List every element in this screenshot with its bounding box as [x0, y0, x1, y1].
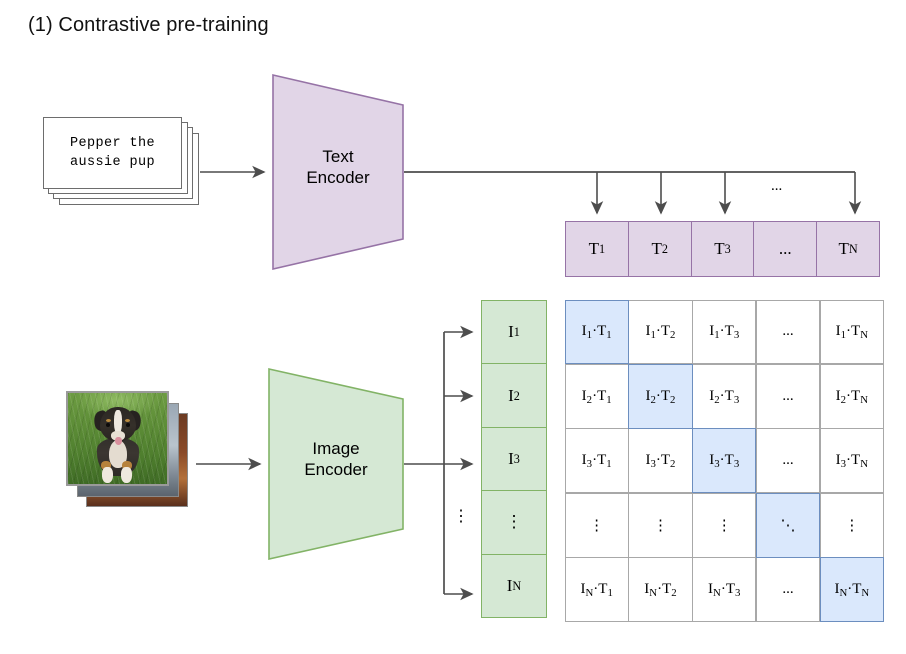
image-embedding-cell: IN: [481, 554, 547, 618]
similarity-cell: I2·TN: [820, 364, 884, 429]
text-embedding-base: T: [651, 239, 661, 259]
text-encoder-label-line1: Text: [272, 146, 404, 167]
text-encoder-block[interactable]: Text Encoder: [272, 74, 404, 270]
similarity-term: I2: [836, 388, 846, 405]
page-title: (1) Contrastive pre-training: [28, 13, 269, 37]
similarity-cell: I1·TN: [820, 300, 884, 365]
similarity-term: T3: [726, 581, 741, 598]
caption-text: Pepper the aussie pup: [70, 134, 155, 172]
similarity-term: I2: [582, 388, 592, 405]
similarity-cell: I1·T3: [692, 300, 756, 365]
similarity-term: I3: [709, 452, 719, 469]
text-row-top-ellipsis: ...: [771, 178, 782, 195]
similarity-term: TN: [851, 452, 868, 469]
text-embedding-base: T: [714, 239, 724, 259]
text-embedding-cell: T1: [565, 221, 629, 277]
puppy-tongue: [115, 437, 122, 445]
similarity-cell: I2·T3: [692, 364, 756, 429]
similarity-cell: IN·T1: [565, 557, 629, 622]
similarity-term: IN: [580, 581, 593, 598]
similarity-cell: ...: [756, 300, 820, 365]
similarity-term: TN: [851, 388, 868, 405]
similarity-cell: ⋮: [820, 493, 884, 558]
similarity-cell: ...: [756, 428, 820, 493]
text-embedding-base: T: [589, 239, 599, 259]
puppy-eye-right: [126, 423, 130, 427]
similarity-cell: ⋮: [565, 493, 629, 558]
similarity-term: T1: [598, 581, 613, 598]
image-embedding-cell: I2: [481, 363, 547, 427]
similarity-term: T2: [661, 388, 676, 405]
similarity-term: I3: [582, 452, 592, 469]
similarity-term: T1: [597, 323, 612, 340]
similarity-term: I1: [645, 323, 655, 340]
similarity-term: I2: [645, 388, 655, 405]
image-encoder-label-line2: Encoder: [268, 459, 404, 480]
text-embedding-row: T1T2T3...TN: [565, 221, 880, 277]
similarity-cell: I2·T1: [565, 364, 629, 429]
similarity-cell: I3·TN: [820, 428, 884, 493]
image-embedding-column: I1I2I3⋮IN: [481, 300, 547, 618]
puppy-illustration: [88, 407, 148, 484]
photo-front-puppy: [66, 391, 169, 486]
similarity-term: I3: [645, 452, 655, 469]
image-embedding-cell: I3: [481, 427, 547, 491]
similarity-term: I2: [709, 388, 719, 405]
similarity-cell: I1·T2: [628, 300, 692, 365]
image-embedding-base: I: [508, 449, 514, 469]
similarity-term: T3: [725, 323, 740, 340]
similarity-term: I1: [836, 323, 846, 340]
puppy-paw-right: [121, 467, 132, 483]
text-embedding-cell: ...: [753, 221, 817, 277]
similarity-cell: IN·T2: [628, 557, 692, 622]
puppy-eye-left: [106, 423, 110, 427]
similarity-term: TN: [852, 581, 869, 598]
similarity-cell: I1·T1: [565, 300, 629, 365]
similarity-cell: I2·T2: [628, 364, 692, 429]
similarity-term: I1: [709, 323, 719, 340]
similarity-term: T3: [725, 388, 740, 405]
similarity-term: I3: [836, 452, 846, 469]
image-card-stack: [66, 391, 196, 509]
similarity-cell: IN·T3: [692, 557, 756, 622]
similarity-cell: I3·T2: [628, 428, 692, 493]
image-encoder-label: Image Encoder: [268, 438, 404, 480]
image-encoder-block[interactable]: Image Encoder: [268, 368, 404, 560]
image-trunk-ellipsis: ⋮: [453, 506, 469, 526]
image-embedding-base: I: [508, 322, 514, 342]
text-embedding-cell: T3: [691, 221, 755, 277]
text-embedding-base: T: [838, 239, 848, 259]
similarity-cell: IN·TN: [820, 557, 884, 622]
similarity-cell: ⋮: [692, 493, 756, 558]
photo-grass-background: [68, 393, 167, 484]
similarity-cell: I3·T3: [692, 428, 756, 493]
similarity-term: T1: [597, 388, 612, 405]
similarity-matrix: I1·T1I1·T2I1·T3...I1·TNI2·T1I2·T2I2·T3..…: [565, 300, 884, 622]
similarity-term: T2: [662, 581, 677, 598]
similarity-cell: ⋱: [756, 493, 820, 558]
image-embedding-cell: I1: [481, 300, 547, 364]
image-embedding-base: I: [508, 386, 514, 406]
wire-text-encoder-to-t-row: [404, 172, 855, 213]
similarity-term: T3: [725, 452, 740, 469]
similarity-cell: ⋮: [628, 493, 692, 558]
text-encoder-label: Text Encoder: [272, 146, 404, 188]
text-card-stack: Pepper the aussie pup: [43, 117, 203, 207]
similarity-cell: ...: [756, 557, 820, 622]
puppy-brow-right: [125, 419, 130, 422]
similarity-term: IN: [644, 581, 657, 598]
similarity-term: T2: [661, 452, 676, 469]
similarity-term: T2: [661, 323, 676, 340]
text-embedding-cell: TN: [816, 221, 880, 277]
similarity-term: IN: [834, 581, 847, 598]
similarity-term: T1: [597, 452, 612, 469]
text-embedding-cell: T2: [628, 221, 692, 277]
similarity-cell: ...: [756, 364, 820, 429]
text-encoder-label-line2: Encoder: [272, 167, 404, 188]
text-card-front: Pepper the aussie pup: [43, 117, 182, 189]
diagram-canvas: (1) Contrastive pre-training Pepper the …: [0, 0, 906, 654]
puppy-paw-left: [102, 467, 113, 483]
similarity-term: TN: [851, 323, 868, 340]
similarity-term: IN: [708, 581, 721, 598]
puppy-brow-left: [106, 419, 111, 422]
image-embedding-cell: ⋮: [481, 490, 547, 554]
similarity-term: I1: [582, 323, 592, 340]
wire-image-encoder-to-i-column: [404, 332, 472, 594]
similarity-cell: I3·T1: [565, 428, 629, 493]
image-encoder-label-line1: Image: [268, 438, 404, 459]
